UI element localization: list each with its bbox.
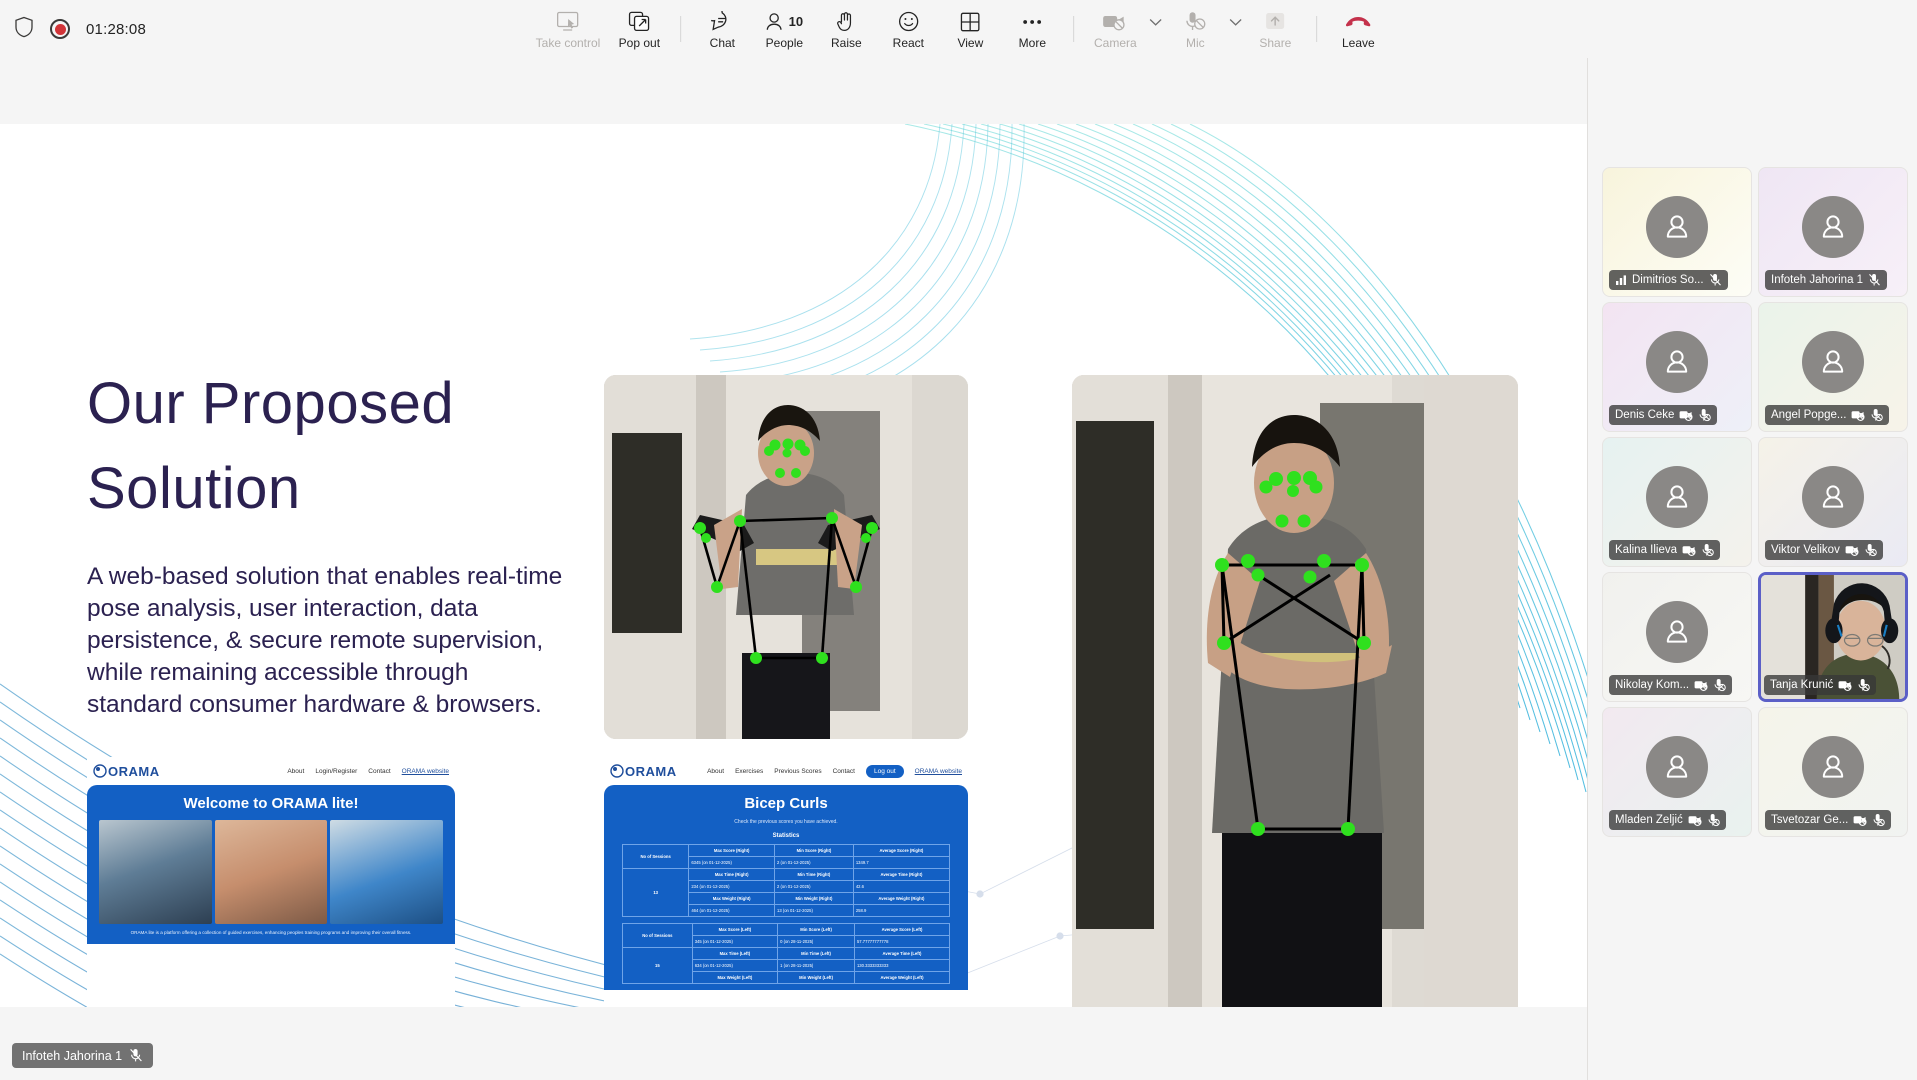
- nav-link-about[interactable]: About: [287, 768, 304, 775]
- nav-link-about-b[interactable]: About: [707, 768, 724, 775]
- nav-link-contact-b[interactable]: Contact: [833, 768, 855, 775]
- slide-title: Our Proposed Solution: [87, 361, 454, 531]
- mic-off-icon: [1857, 678, 1870, 692]
- td-max-weight-right: 464 (on 01-12-2025): [689, 905, 775, 917]
- participant-tile-active[interactable]: Tanja Krunić: [1758, 572, 1908, 702]
- pop-out-icon: [628, 11, 650, 33]
- sessions-value-right: 13: [623, 869, 689, 917]
- td-max-score-left: 345 (on 01-12-2025): [692, 936, 777, 948]
- toolbar-left-group: 01:28:08: [0, 16, 146, 43]
- avatar: [1646, 331, 1708, 393]
- td-min-score-left: 0 (on 28-11-2025): [778, 936, 855, 948]
- view-button[interactable]: View: [939, 9, 1001, 50]
- participant-tile[interactable]: Infoteh Jahorina 1: [1758, 167, 1908, 297]
- presenter-name-chip: Infoteh Jahorina 1: [12, 1043, 153, 1068]
- orama-a-nav-links: About Login/Register Contact ORAMA websi…: [287, 768, 449, 775]
- camera-off-icon: [1694, 679, 1708, 691]
- participant-name-chip: Tsvetozar Ge...: [1765, 810, 1891, 830]
- th-avg-score-left: Average Score (Left): [854, 924, 949, 936]
- toolbar-divider-3: [1316, 16, 1317, 42]
- mic-label: Mic: [1186, 36, 1205, 50]
- react-smiley-icon: [898, 11, 919, 33]
- participant-name-chip: Kalina Ilieva: [1609, 540, 1720, 560]
- react-button[interactable]: React: [877, 9, 939, 50]
- participant-name-chip: Denis Čeke: [1609, 405, 1717, 425]
- table-row: No of Sessions Max Score (Left) Min Scor…: [623, 924, 950, 936]
- pose-estimation-image-left: [604, 375, 968, 739]
- orama-logo-icon-b: ORAMA: [610, 764, 677, 779]
- participant-tile[interactable]: Denis Čeke: [1602, 302, 1752, 432]
- participant-name: Dimitrios So...: [1632, 274, 1704, 286]
- stats-table-left: No of Sessions Max Score (Left) Min Scor…: [622, 923, 950, 984]
- mic-off-icon: [1864, 543, 1877, 557]
- camera-off-icon: [1688, 814, 1702, 826]
- share-button[interactable]: Share: [1244, 9, 1306, 50]
- avatar: [1646, 196, 1708, 258]
- participant-name: Infoteh Jahorina 1: [1771, 274, 1863, 286]
- avatar: [1646, 601, 1708, 663]
- th-min-weight-right: Min Weight (Right): [774, 893, 853, 905]
- camera-off-icon: [1851, 409, 1865, 421]
- orama-bicep-curls-screenshot: ORAMA About Exercises Previous Scores Co…: [604, 757, 968, 1007]
- td-avg-time-right: 42.6: [853, 881, 949, 893]
- chat-label: Chat: [710, 36, 735, 50]
- participant-name: Mladen Zeljić: [1615, 814, 1683, 826]
- mic-off-icon: [1698, 408, 1711, 422]
- nav-link-login-register[interactable]: Login/Register: [315, 768, 357, 775]
- avatar: [1646, 736, 1708, 798]
- participant-name: Kalina Ilieva: [1615, 544, 1677, 556]
- nav-link-exercises[interactable]: Exercises: [735, 768, 763, 775]
- td-min-weight-right: 13 (on 01-12-2025): [774, 905, 853, 917]
- share-label: Share: [1259, 36, 1291, 50]
- take-control-icon: [556, 11, 579, 33]
- sessions-value-left: 15: [623, 948, 693, 984]
- orama-logo-text-b: ORAMA: [625, 764, 677, 779]
- mic-off-icon: [1707, 813, 1720, 827]
- speaking-bars-icon: [1615, 274, 1627, 286]
- orama-a-hero: Welcome to ORAMA lite! ORAMA lite is a p…: [87, 785, 455, 944]
- avatar: [1802, 466, 1864, 528]
- more-button[interactable]: More: [1001, 9, 1063, 50]
- participant-name-chip: Dimitrios So...: [1609, 270, 1728, 290]
- th-min-weight-left: Min Weight (Left): [778, 972, 855, 984]
- toolbar-divider: [680, 16, 681, 42]
- sessions-label-left: No of Sessions: [623, 924, 693, 948]
- more-ellipsis-icon: [1021, 11, 1043, 33]
- pop-out-label: Pop out: [619, 36, 660, 50]
- table-row: No of Sessions Max Score (Right) Min Sco…: [623, 845, 950, 857]
- take-control-label: Take control: [536, 36, 601, 50]
- participant-tile[interactable]: Tsvetozar Ge...: [1758, 707, 1908, 837]
- th-max-weight-right: Max Weight (Right): [689, 893, 775, 905]
- toolbar-divider-2: [1073, 16, 1074, 42]
- hero-photo-3: [330, 820, 443, 924]
- mic-off-icon: [1701, 543, 1714, 557]
- leave-call-icon: [1344, 11, 1372, 33]
- mic-muted-icon: [1868, 273, 1881, 287]
- chat-button[interactable]: Chat: [691, 9, 753, 50]
- pose-photo-left: [604, 375, 968, 739]
- view-label: View: [957, 36, 983, 50]
- camera-chevron-down-icon[interactable]: [1146, 18, 1164, 40]
- orama-b-hero-title: Bicep Curls: [604, 795, 968, 812]
- participant-name-chip: Viktor Velikov: [1765, 540, 1883, 560]
- camera-off-icon: [1102, 11, 1128, 33]
- hero-photo-1: [99, 820, 212, 924]
- th-max-time-left: Max Time (Left): [692, 948, 777, 960]
- td-avg-weight-right: 258.9: [853, 905, 949, 917]
- th-min-score-right: Min Score (Right): [774, 845, 853, 857]
- mic-off-icon: [1872, 813, 1885, 827]
- td-max-time-left: 634 (on 01-12-2025): [692, 960, 777, 972]
- participant-name: Viktor Velikov: [1771, 544, 1840, 556]
- td-avg-score-right: 1349.7: [853, 857, 949, 869]
- react-label: React: [893, 36, 924, 50]
- td-avg-score-left: 57.77777777778: [854, 936, 949, 948]
- raise-hand-label: Raise: [831, 36, 862, 50]
- mic-muted-icon: [1709, 273, 1722, 287]
- orama-a-navbar: ORAMA About Login/Register Contact ORAMA…: [87, 757, 455, 785]
- record-icon[interactable]: [50, 19, 70, 39]
- share-up-arrow-icon: [1263, 11, 1287, 33]
- participant-name: Angel Popge...: [1771, 409, 1846, 421]
- orama-logo-text: ORAMA: [108, 764, 160, 779]
- participant-name: Denis Čeke: [1615, 409, 1674, 421]
- th-min-time-right: Min Time (Right): [774, 869, 853, 881]
- mic-chevron-down-icon[interactable]: [1226, 18, 1244, 40]
- people-button[interactable]: 10 People: [753, 9, 815, 50]
- table-row: 13 Max Time (Right) Min Time (Right) Ave…: [623, 869, 950, 881]
- logout-button[interactable]: Log out: [866, 765, 904, 778]
- pose-photo-right: [1072, 375, 1518, 1007]
- nav-link-contact[interactable]: Contact: [368, 768, 390, 775]
- avatar: [1802, 196, 1864, 258]
- mic-off-icon: [1713, 678, 1726, 692]
- mic-button[interactable]: Mic: [1164, 9, 1226, 50]
- orama-b-stats-heading: Statistics: [604, 833, 968, 839]
- th-max-weight-left: Max Weight (Left): [692, 972, 777, 984]
- td-min-score-right: 2 (on 01-12-2025): [774, 857, 853, 869]
- people-label: People: [766, 36, 803, 50]
- slide-body-text: A web-based solution that enables real-t…: [87, 561, 567, 721]
- participant-rail: Dimitrios So... Infoteh Jahorina 1: [1587, 58, 1917, 1080]
- participant-name-chip: Infoteh Jahorina 1: [1765, 270, 1887, 290]
- nav-link-orama-website-b[interactable]: ORAMA website: [915, 768, 962, 775]
- shared-content-stage: Our Proposed Solution A web-based soluti…: [0, 58, 1587, 1080]
- hero-photo-2: [215, 820, 328, 924]
- raise-hand-button[interactable]: Raise: [815, 9, 877, 50]
- th-max-score-right: Max Score (Right): [689, 845, 775, 857]
- avatar: [1646, 466, 1708, 528]
- take-control-button[interactable]: Take control: [528, 9, 609, 50]
- pop-out-button[interactable]: Pop out: [608, 9, 670, 50]
- raise-hand-icon: [836, 11, 856, 33]
- presenter-name: Infoteh Jahorina 1: [22, 1049, 122, 1063]
- th-max-time-right: Max Time (Right): [689, 869, 775, 881]
- th-max-score-left: Max Score (Left): [692, 924, 777, 936]
- orama-a-caption: ORAMA lite is a platform offering a coll…: [87, 924, 455, 944]
- leave-label: Leave: [1342, 36, 1375, 50]
- participant-tile[interactable]: Angel Popge...: [1758, 302, 1908, 432]
- camera-off-icon: [1853, 814, 1867, 826]
- orama-b-subtitle: Check the previous scores you have achie…: [604, 819, 968, 825]
- th-avg-weight-left: Average Weight (Left): [854, 972, 949, 984]
- camera-label: Camera: [1094, 36, 1137, 50]
- presentation-slide[interactable]: Our Proposed Solution A web-based soluti…: [0, 124, 1587, 1007]
- th-min-score-left: Min Score (Left): [778, 924, 855, 936]
- leave-button[interactable]: Leave: [1327, 9, 1389, 50]
- mic-off-icon: [1870, 408, 1883, 422]
- more-label: More: [1019, 36, 1046, 50]
- recording-timer: 01:28:08: [86, 21, 146, 38]
- mic-muted-icon: [129, 1048, 143, 1063]
- people-icon: 10: [766, 11, 803, 33]
- participant-name-chip: Tanja Krunić: [1764, 675, 1876, 695]
- orama-b-nav-links: About Exercises Previous Scores Contact …: [707, 765, 962, 778]
- participant-tile[interactable]: Mladen Zeljić: [1602, 707, 1752, 837]
- orama-logo-icon: ORAMA: [93, 764, 160, 779]
- camera-off-icon: [1682, 544, 1696, 556]
- participant-name: Tsvetozar Ge...: [1771, 814, 1848, 826]
- participant-name-chip: Nikolay Kom...: [1609, 675, 1732, 695]
- participant-tile[interactable]: Dimitrios So...: [1602, 167, 1752, 297]
- orama-a-photo-row: [87, 812, 455, 924]
- participant-name-chip: Angel Popge...: [1765, 405, 1889, 425]
- orama-b-hero: Bicep Curls Check the previous scores yo…: [604, 785, 968, 990]
- participant-tile[interactable]: Viktor Velikov: [1758, 437, 1908, 567]
- people-count: 10: [789, 14, 803, 29]
- nav-link-orama-website[interactable]: ORAMA website: [402, 768, 449, 775]
- th-avg-time-left: Average Time (Left): [854, 948, 949, 960]
- orama-b-navbar: ORAMA About Exercises Previous Scores Co…: [604, 757, 968, 785]
- td-max-time-right: 234 (on 01-12-2025): [689, 881, 775, 893]
- stats-table-right: No of Sessions Max Score (Right) Min Sco…: [622, 844, 950, 917]
- camera-off-icon: [1679, 409, 1693, 421]
- participant-tile[interactable]: Kalina Ilieva: [1602, 437, 1752, 567]
- participant-name: Nikolay Kom...: [1615, 679, 1689, 691]
- td-min-time-left: 1 (on 28-11-2025): [778, 960, 855, 972]
- th-avg-weight-right: Average Weight (Right): [853, 893, 949, 905]
- meeting-toolbar: 01:28:08 Take control Pop out Chat 10: [0, 0, 1917, 58]
- orama-home-screenshot: ORAMA About Login/Register Contact ORAMA…: [87, 757, 455, 1007]
- camera-button[interactable]: Camera: [1084, 9, 1146, 50]
- camera-off-icon: [1838, 679, 1852, 691]
- avatar: [1802, 736, 1864, 798]
- orama-a-hero-title: Welcome to ORAMA lite!: [87, 795, 455, 812]
- th-min-time-left: Min Time (Left): [778, 948, 855, 960]
- participant-tile[interactable]: Nikolay Kom...: [1602, 572, 1752, 702]
- nav-link-previous-scores[interactable]: Previous Scores: [774, 768, 821, 775]
- chat-icon: [711, 11, 733, 33]
- td-min-time-right: 2 (on 01-12-2025): [774, 881, 853, 893]
- camera-off-icon: [1845, 544, 1859, 556]
- toolbar-center-group: Take control Pop out Chat 10 People: [528, 0, 1390, 58]
- view-grid-icon: [960, 11, 980, 33]
- sessions-label-right: No of Sessions: [623, 845, 689, 869]
- shield-icon: [14, 16, 34, 43]
- table-row: 15 Max Time (Left) Min Time (Left) Avera…: [623, 948, 950, 960]
- participant-name-chip: Mladen Zeljić: [1609, 810, 1726, 830]
- th-avg-time-right: Average Time (Right): [853, 869, 949, 881]
- pose-estimation-image-right: [1072, 375, 1518, 1007]
- td-avg-time-left: 130.3333333333: [854, 960, 949, 972]
- th-avg-score-right: Average Score (Right): [853, 845, 949, 857]
- mic-off-icon: [1183, 11, 1207, 33]
- participant-tile-grid: Dimitrios So... Infoteh Jahorina 1: [1602, 167, 1908, 837]
- participant-name: Tanja Krunić: [1770, 679, 1833, 691]
- avatar: [1802, 331, 1864, 393]
- td-max-score-right: 6345 (on 01-12-2025): [689, 857, 775, 869]
